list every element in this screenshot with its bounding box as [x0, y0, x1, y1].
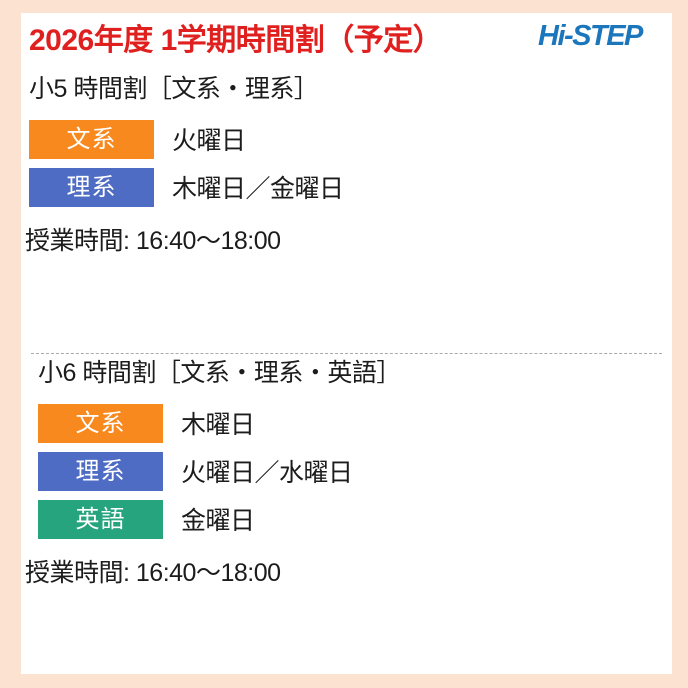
course-row: 文系 火曜日: [29, 119, 672, 159]
section-grade6-rows: 文系 木曜日 理系 火曜日／水曜日 英語 金曜日: [38, 403, 672, 539]
section-grade5-heading: 小5 時間割［文系・理系］: [29, 69, 672, 105]
course-badge-science: 理系: [29, 168, 154, 207]
logo-text: Hi-STEP: [538, 20, 644, 52]
course-row: 理系 火曜日／水曜日: [38, 451, 672, 491]
course-days: 金曜日: [181, 501, 255, 537]
course-badge-humanities: 文系: [29, 120, 154, 159]
course-badge-humanities: 文系: [38, 404, 163, 443]
section-grade5: 小5 時間割［文系・理系］ 文系 火曜日 理系 木曜日／金曜日 授業時間: 16…: [21, 69, 672, 257]
page-title: 2026年度 1学期時間割（予定）: [29, 15, 442, 59]
section-grade6: 小6 時間割［文系・理系・英語］ 文系 木曜日 理系 火曜日／水曜日 英語 金曜…: [21, 353, 672, 589]
course-days: 火曜日: [172, 121, 246, 157]
page-frame: 2026年度 1学期時間割（予定） Hi-STEP 小5 時間割［文系・理系］ …: [0, 0, 688, 688]
section-grade6-heading: 小6 時間割［文系・理系・英語］: [38, 353, 672, 389]
course-row: 理系 木曜日／金曜日: [29, 167, 672, 207]
course-days: 木曜日: [181, 405, 255, 441]
header: 2026年度 1学期時間割（予定） Hi-STEP: [21, 13, 672, 69]
histep-logo-icon: Hi-STEP: [536, 18, 666, 52]
course-days: 火曜日／水曜日: [181, 453, 353, 489]
course-badge-science: 理系: [38, 452, 163, 491]
course-row: 文系 木曜日: [38, 403, 672, 443]
course-row: 英語 金曜日: [38, 499, 672, 539]
course-badge-english: 英語: [38, 500, 163, 539]
schedule-card: 2026年度 1学期時間割（予定） Hi-STEP 小5 時間割［文系・理系］ …: [21, 13, 672, 674]
section-grade5-rows: 文系 火曜日 理系 木曜日／金曜日: [29, 119, 672, 207]
class-time-grade5: 授業時間: 16:40〜18:00: [25, 221, 672, 257]
course-days: 木曜日／金曜日: [172, 169, 344, 205]
class-time-grade6: 授業時間: 16:40〜18:00: [25, 553, 672, 589]
